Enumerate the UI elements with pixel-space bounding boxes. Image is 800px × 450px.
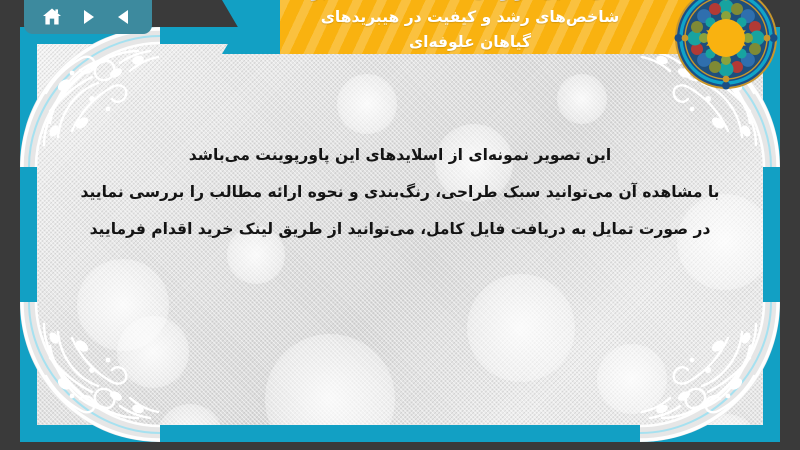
- bokeh-circle: [337, 74, 397, 134]
- previous-arrow-icon[interactable]: [111, 4, 137, 30]
- body-line: با مشاهده آن می‌توانید سبک طراحی، رنگ‌بن…: [50, 174, 750, 211]
- bokeh-circle: [597, 344, 667, 414]
- bokeh-circle: [557, 74, 607, 124]
- bokeh-circle: [117, 316, 189, 388]
- slide-title-text: کامل تحلیل اثر زمان‌های مختلف کاشت بر شا…: [250, 0, 690, 55]
- slide-viewer: این تصویر نمونه‌ای از اسلایدهای این پاور…: [0, 0, 800, 450]
- next-arrow-icon[interactable]: [75, 4, 101, 30]
- slide-viewer-toolbar: [24, 0, 152, 34]
- slide-body-text: این تصویر نمونه‌ای از اسلایدهای این پاور…: [50, 137, 750, 248]
- title-line: گیاهان علوفه‌ای: [250, 30, 690, 55]
- body-line: این تصویر نمونه‌ای از اسلایدهای این پاور…: [50, 137, 750, 174]
- title-line: شاخص‌های رشد و کیفیت در هیبریدهای: [250, 5, 690, 30]
- persian-medallion-icon: [674, 0, 778, 90]
- body-line: در صورت تمایل به دریافت فایل کامل، می‌تو…: [50, 211, 750, 248]
- bokeh-circle: [467, 274, 575, 382]
- slide-canvas: این تصویر نمونه‌ای از اسلایدهای این پاور…: [20, 27, 780, 442]
- home-icon[interactable]: [39, 4, 65, 30]
